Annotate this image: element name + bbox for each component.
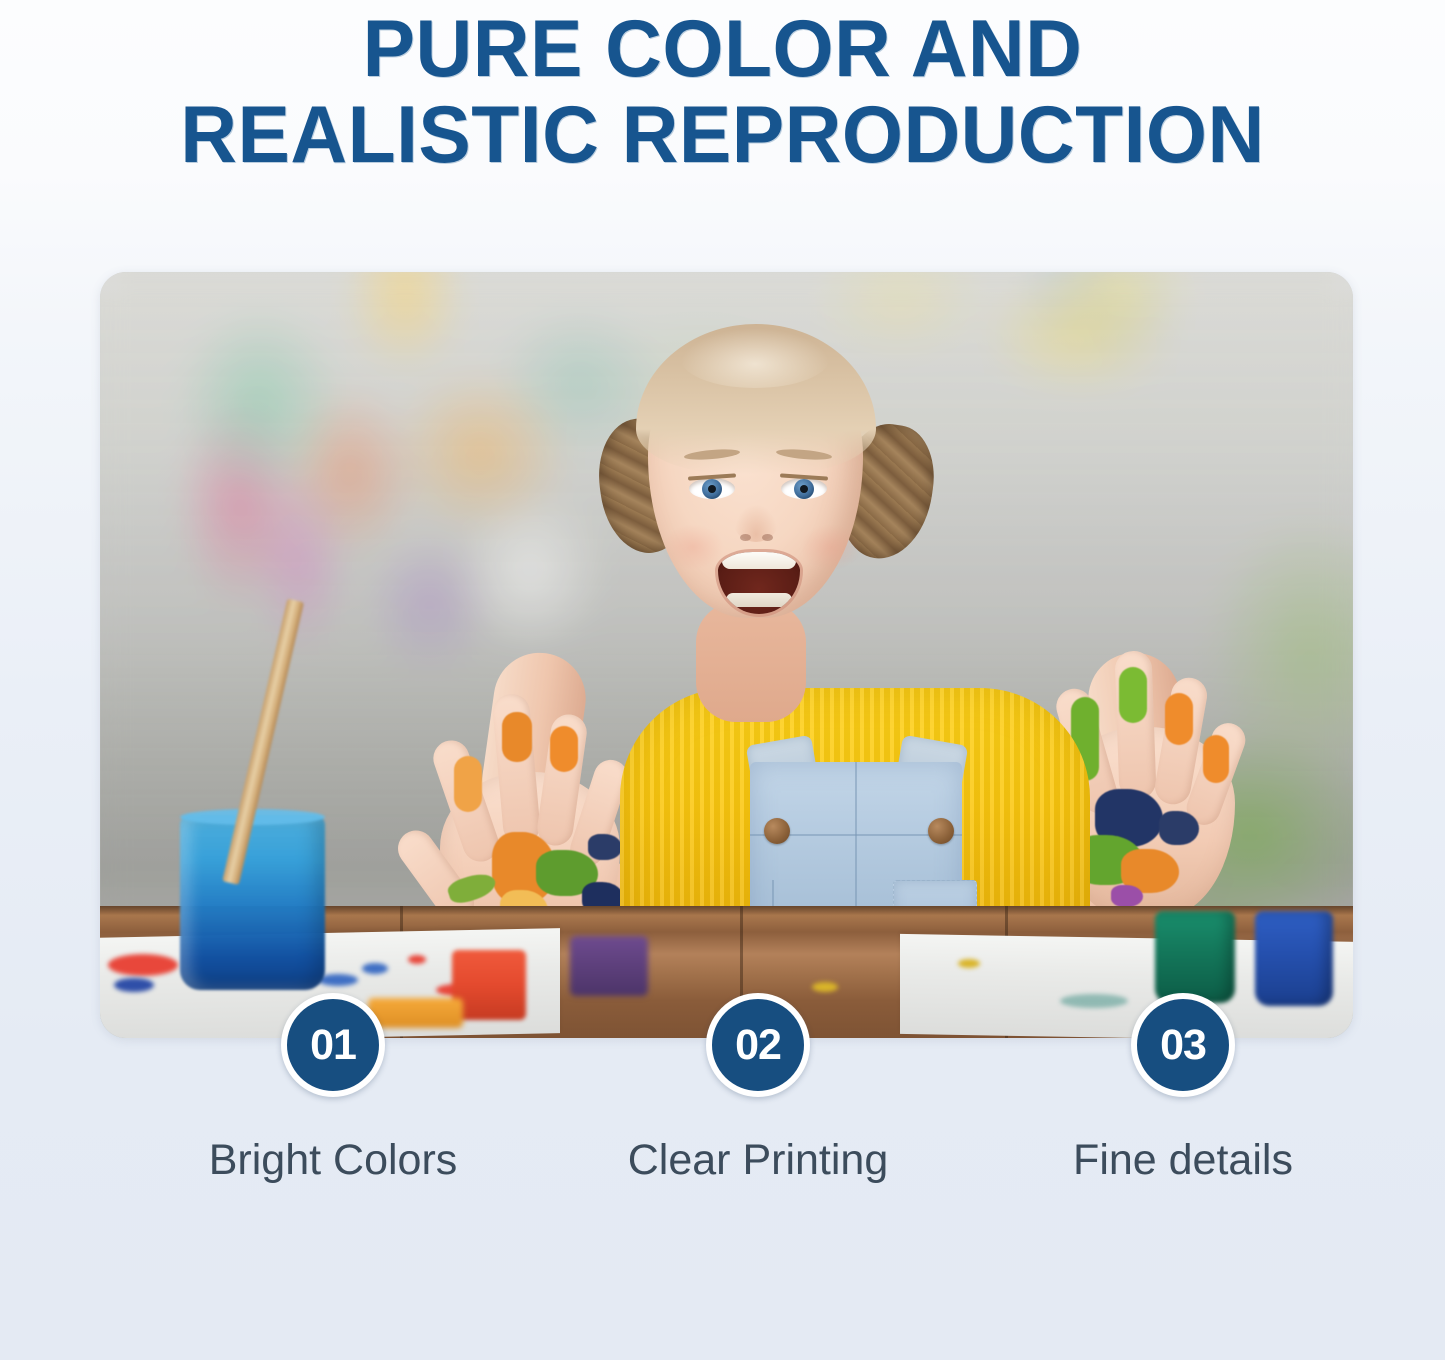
badge-number-02: 02 (735, 1024, 781, 1067)
neck (696, 602, 806, 722)
paint-tip-orange-1 (502, 712, 532, 762)
feature-label-03: Fine details (973, 1134, 1393, 1186)
headline-line-2: REALISTIC REPRODUCTION (22, 92, 1424, 178)
feature-label-02: Clear Printing (548, 1134, 968, 1186)
iris-left (702, 479, 722, 499)
yellow-paint-tube (368, 998, 463, 1028)
overall-buckle-left-icon (764, 818, 790, 844)
overall-buckle-right-icon (928, 818, 954, 844)
paint-smudge-red-1 (108, 954, 178, 976)
paint-tip-orange-3 (550, 726, 578, 772)
badge-number-01: 01 (310, 1024, 356, 1067)
paint-smudge-blue-3 (362, 963, 388, 974)
feature-badge-01: 01 (281, 993, 385, 1097)
paint-smudge-teal-1 (1060, 994, 1128, 1008)
feature-label-01: Bright Colors (123, 1134, 543, 1186)
nostril-right (762, 534, 773, 541)
paint-splotch-navy-2 (588, 834, 622, 860)
green-paint-cup (1155, 911, 1235, 1003)
headline-line-1: PURE COLOR AND (22, 6, 1424, 92)
paint-tip-orange-2 (454, 756, 482, 812)
blue-paint-cup-right (1255, 911, 1333, 1006)
purple-paint-cup (570, 936, 648, 996)
paint-smudge-blue-1 (114, 978, 154, 992)
eye-right (781, 478, 827, 499)
hero-photo (100, 272, 1353, 1038)
red-paint-cup (452, 950, 526, 1020)
paint-splotch-purple-r (1111, 885, 1143, 907)
paint-finger-green-2 (1119, 667, 1147, 723)
paint-splotch-navy-r2 (1159, 811, 1199, 845)
upper-teeth (722, 552, 796, 569)
blue-paint-cup (180, 815, 325, 990)
feature-badge-03: 03 (1131, 993, 1235, 1097)
paint-smudge-red-2 (408, 955, 426, 964)
lower-teeth (726, 593, 792, 607)
open-smiling-mouth (718, 552, 800, 614)
cheek-left (662, 524, 724, 570)
paint-finger-orange (1165, 693, 1193, 745)
cheek-right (800, 524, 862, 570)
paint-smudge-yellow-1 (812, 982, 838, 992)
feature-badge-02: 02 (706, 993, 810, 1097)
iris-right (794, 479, 814, 499)
eye-left (689, 478, 735, 499)
paint-smudge-yellow-2 (958, 959, 980, 968)
paint-finger-orange-2 (1203, 735, 1229, 783)
hair-highlight (680, 328, 830, 388)
page-headline: PURE COLOR AND REALISTIC REPRODUCTION (0, 0, 1445, 178)
badge-number-03: 03 (1160, 1024, 1206, 1067)
nostril-left (740, 534, 751, 541)
